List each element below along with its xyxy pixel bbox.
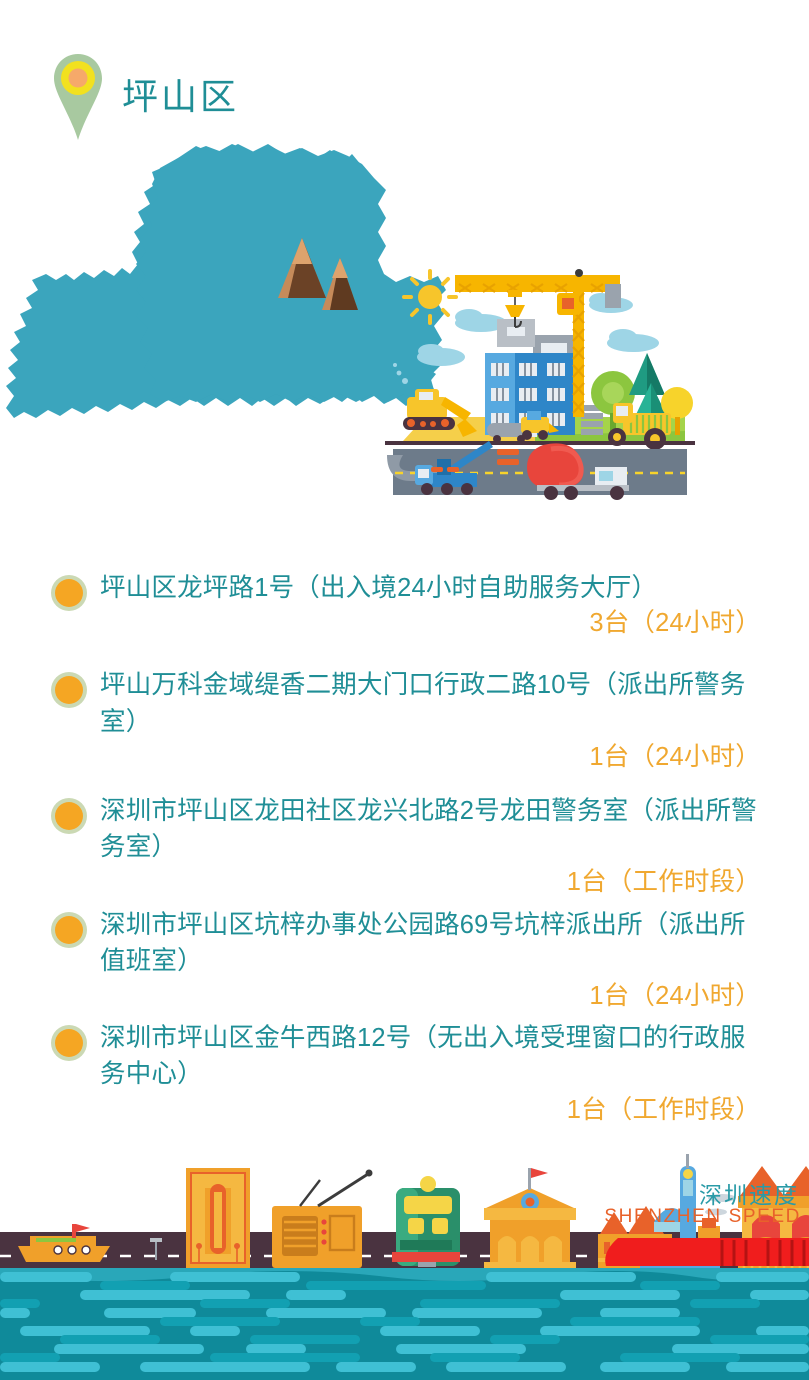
dot-bullet-icon [55, 916, 83, 944]
address-text: 深圳市坪山区龙田社区龙兴北路2号龙田警务室（派出所警务室） [100, 797, 757, 861]
device-count: 1台（24小时） [100, 978, 761, 1014]
header: 坪山区 [52, 52, 239, 142]
brand-name-cn: 深圳速度 [699, 1176, 799, 1210]
device-count: 1台（工作时段） [100, 864, 761, 900]
page-title: 坪山区 [122, 79, 239, 115]
dot-bullet-icon [55, 1029, 83, 1057]
dot-bullet-icon [55, 579, 83, 607]
list-item[interactable]: 坪山万科金域缇香二期大门口行政二路10号（派出所警务室） 1台（24小时） [0, 667, 809, 775]
map-region-label: Pingshan [244, 472, 377, 508]
address-text: 深圳市坪山区金牛西路12号（无出入境受理窗口的行政服务中心） [100, 1024, 746, 1088]
address-text: 坪山区龙坪路1号（出入境24小时自助服务大厅） [100, 574, 657, 602]
sun-icon [404, 271, 456, 323]
dot-bullet-icon [55, 676, 83, 704]
brand-name-en: SHENZHEN SPEED [604, 1206, 801, 1228]
footer: 深圳速度 SHENZHEN SPEED [0, 1150, 809, 1380]
device-count: 1台（24小时） [100, 739, 761, 775]
gate-arch-icon [484, 1168, 576, 1268]
monument-icon [186, 1168, 250, 1268]
device-count: 3台（24小时） [100, 605, 761, 641]
excavator-icon [393, 363, 477, 437]
address-list: 坪山区龙坪路1号（出入境24小时自助服务大厅） 3台（24小时） 坪山万科金域缇… [0, 570, 809, 1128]
bullet-train-icon [605, 1238, 809, 1266]
skyline-footer-illustration [0, 1150, 809, 1380]
address-text: 坪山万科金域缇香二期大门口行政二路10号（派出所警务室） [100, 671, 746, 735]
radio-icon [272, 1170, 373, 1269]
address-text: 深圳市坪山区坑梓办事处公园路69号坑梓派出所（派出所值班室） [100, 911, 746, 975]
map-area: Pingshan [0, 140, 809, 520]
list-item[interactable]: 深圳市坪山区坑梓办事处公园路69号坑梓派出所（派出所值班室） 1台（24小时） [0, 907, 809, 1015]
construction-site-illustration [385, 245, 695, 510]
list-item[interactable]: 坪山区龙坪路1号（出入境24小时自助服务大厅） 3台（24小时） [0, 570, 809, 641]
infographic-page: 坪山区 Pingshan [0, 0, 809, 1380]
dot-bullet-icon [55, 802, 83, 830]
list-item[interactable]: 深圳市坪山区龙田社区龙兴北路2号龙田警务室（派出所警务室） 1台（工作时段） [0, 793, 809, 901]
map-pin-icon [52, 52, 104, 142]
device-count: 1台（工作时段） [100, 1092, 761, 1128]
list-item[interactable]: 深圳市坪山区金牛西路12号（无出入境受理窗口的行政服务中心） 1台（工作时段） [0, 1020, 809, 1128]
train-icon [392, 1176, 460, 1267]
